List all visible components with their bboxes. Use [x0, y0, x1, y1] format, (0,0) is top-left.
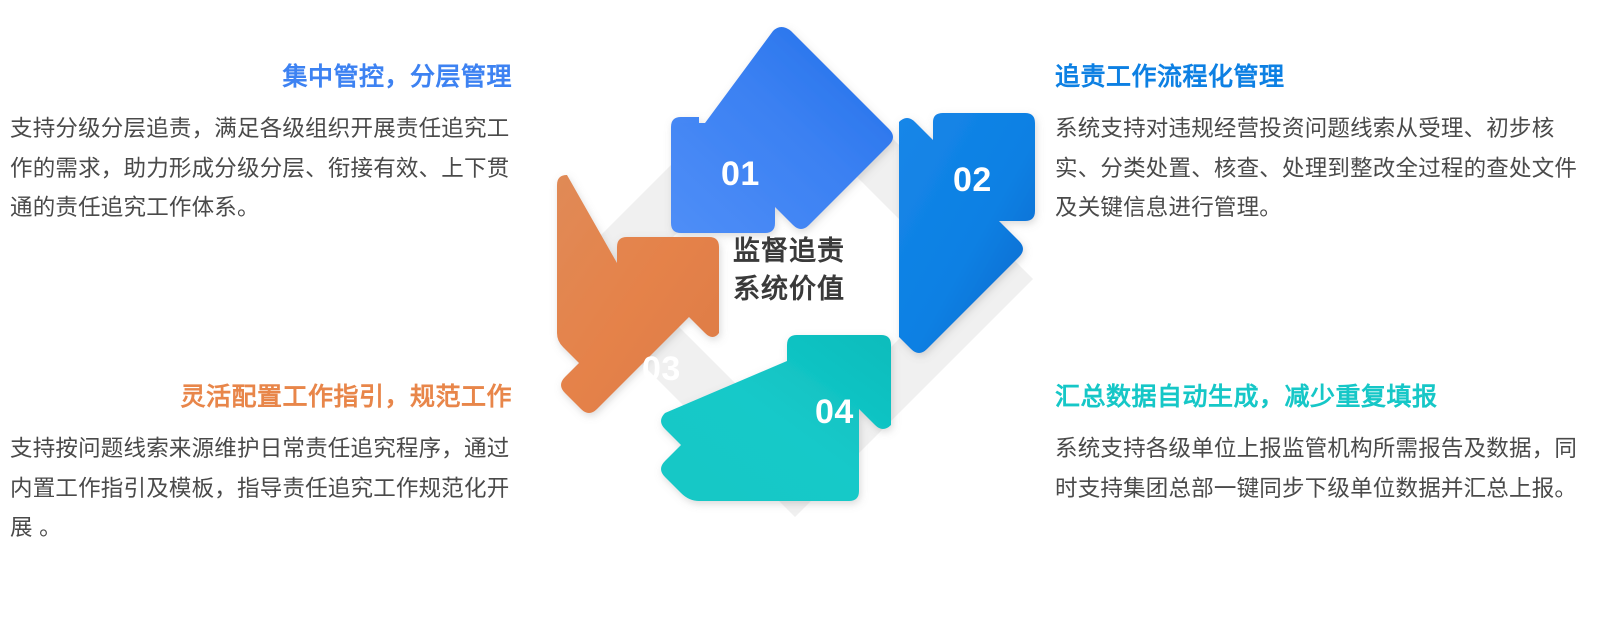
cycle-number-04: 04 [815, 393, 854, 431]
feature-block-04: 汇总数据自动生成，减少重复填报 系统支持各级单位上报监管机构所需报告及数据，同时… [1055, 382, 1615, 508]
feature-heading-02: 追责工作流程化管理 [1055, 62, 1615, 93]
cycle-diagram: 01 02 03 04 [529, 9, 1049, 529]
feature-body-03: 支持按问题线索来源维护日常责任追究程序，通过内置工作指引及模板，指导责任追究工作… [10, 429, 510, 547]
feature-body-04: 系统支持各级单位上报监管机构所需报告及数据，同时支持集团总部一键同步下级单位数据… [1055, 429, 1580, 508]
feature-block-01: 集中管控，分层管理 支持分级分层追责，满足各级组织开展责任追究工作的需求，助力形… [10, 62, 512, 227]
feature-body-02: 系统支持对违规经营投资问题线索从受理、初步核实、分类处置、核查、处理到整改全过程… [1055, 109, 1580, 227]
feature-heading-04: 汇总数据自动生成，减少重复填报 [1055, 382, 1615, 413]
infographic-canvas: 集中管控，分层管理 支持分级分层追责，满足各级组织开展责任追究工作的需求，助力形… [0, 0, 1618, 618]
cycle-number-02: 02 [953, 161, 992, 199]
feature-block-03: 灵活配置工作指引，规范工作 支持按问题线索来源维护日常责任追究程序，通过内置工作… [10, 382, 512, 547]
cycle-number-03: 03 [642, 350, 681, 388]
cycle-arrow-01[interactable] [671, 27, 893, 233]
feature-block-02: 追责工作流程化管理 系统支持对违规经营投资问题线索从受理、初步核实、分类处置、核… [1055, 62, 1615, 227]
feature-body-01: 支持分级分层追责，满足各级组织开展责任追究工作的需求，助力形成分级分层、衔接有效… [10, 109, 510, 227]
feature-heading-01: 集中管控，分层管理 [10, 62, 512, 93]
cycle-number-01: 01 [721, 155, 760, 193]
feature-heading-03: 灵活配置工作指引，规范工作 [10, 382, 512, 413]
